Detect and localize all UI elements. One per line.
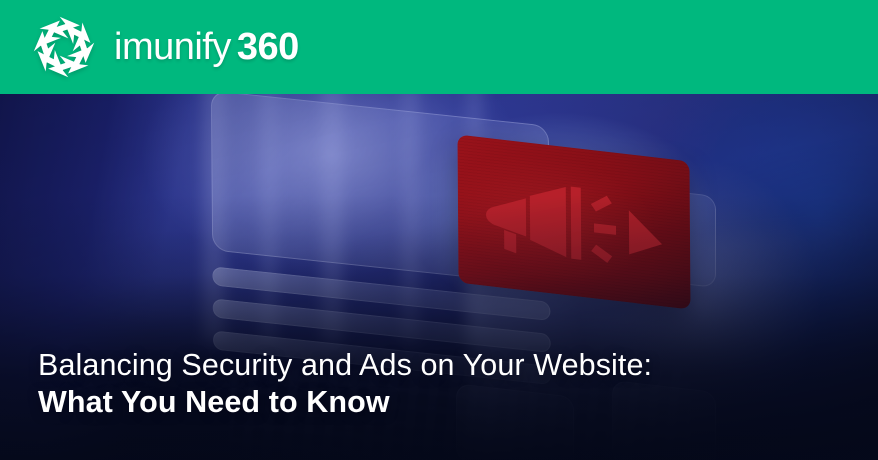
brand-header: imunify 360 xyxy=(0,0,878,94)
imunify360-logo[interactable]: imunify 360 xyxy=(28,9,278,85)
blog-banner: imunify 360 xyxy=(0,0,878,460)
page-title: Balancing Security and Ads on Your Websi… xyxy=(38,350,652,418)
imunify360-wordmark: imunify 360 xyxy=(114,28,299,66)
wordmark-360: 360 xyxy=(237,28,299,66)
headline-line-2: What You Need to Know xyxy=(38,387,652,419)
imunify-starburst-logo-icon xyxy=(28,11,100,83)
headline-line-1: Balancing Security and Ads on Your Websi… xyxy=(38,350,652,382)
wordmark-imunify: imunify xyxy=(114,28,231,66)
